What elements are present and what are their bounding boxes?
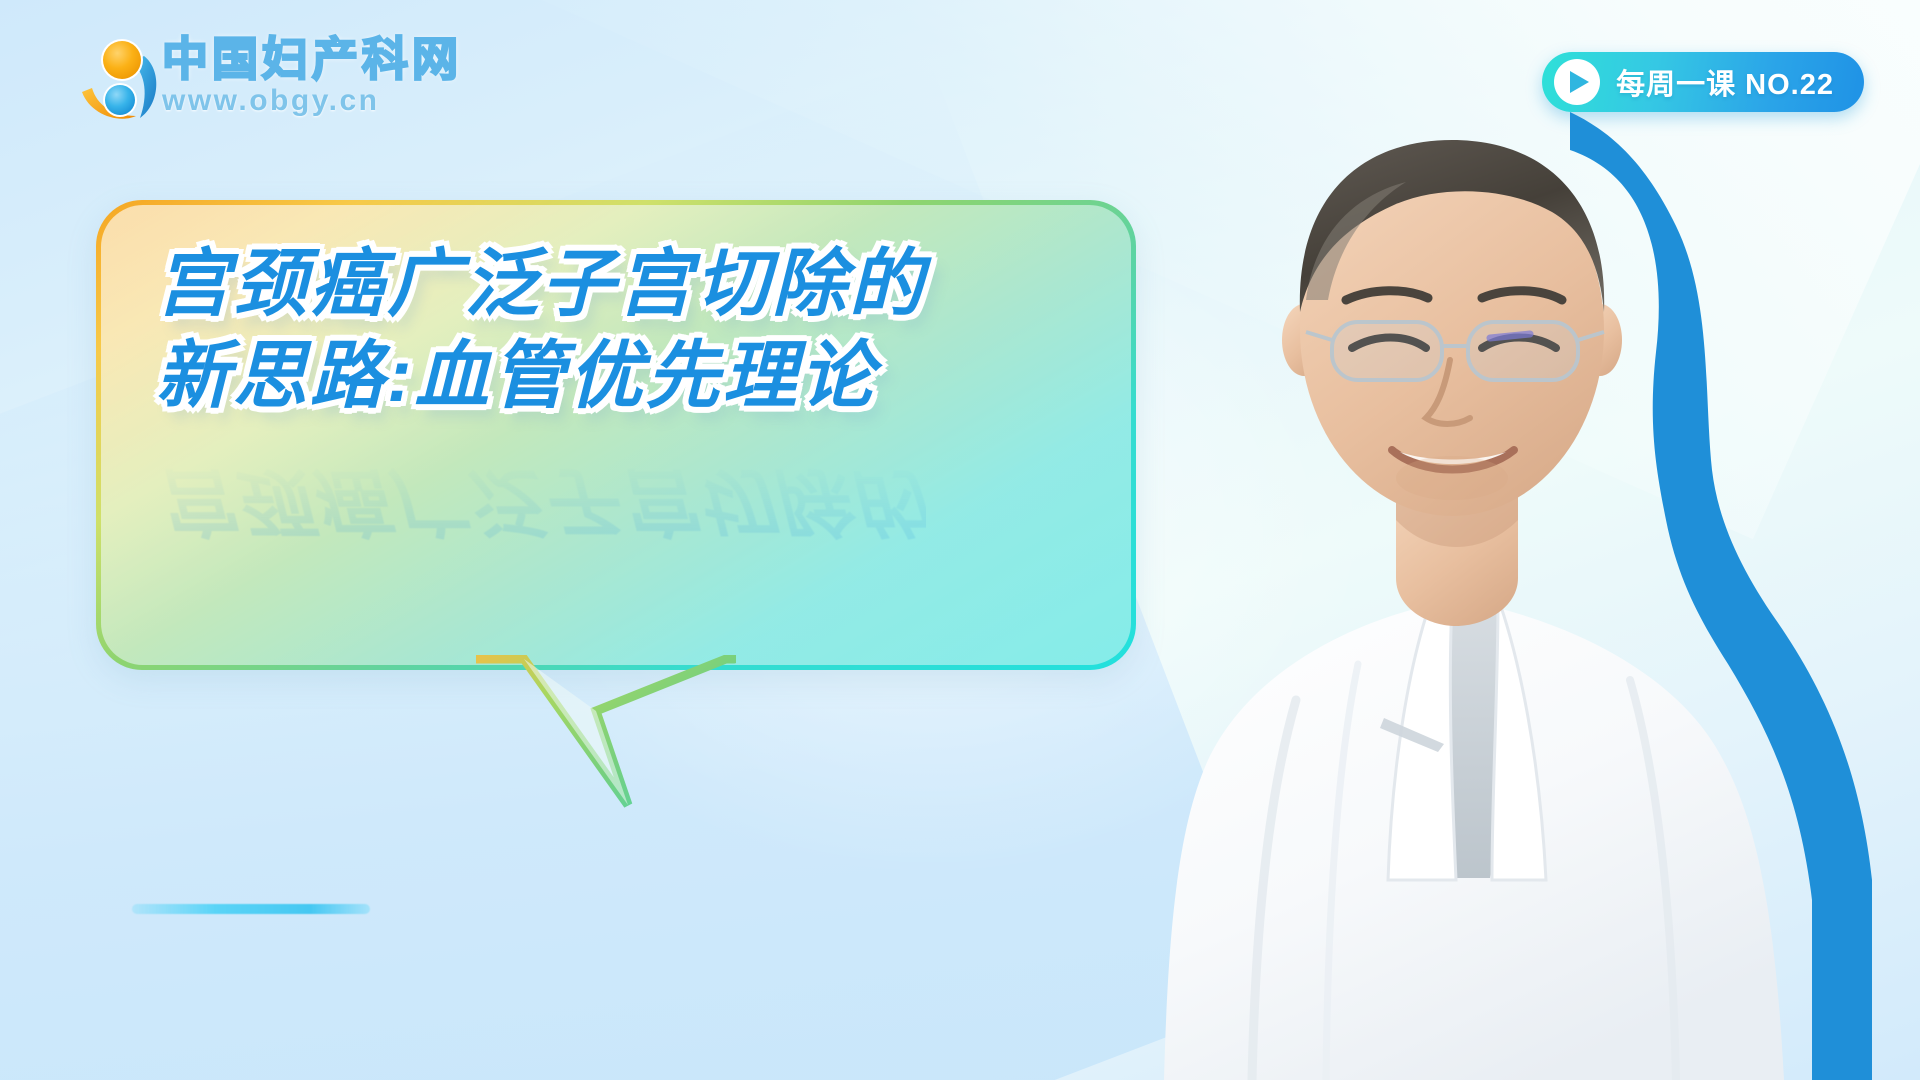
portrait-head — [1300, 140, 1604, 516]
speech-bubble-tail — [476, 655, 736, 835]
title-speech-bubble: 宫颈癌广泛子宫切除的 新思路:血管优先理论 宫颈癌广泛子宫切除的 — [96, 200, 1136, 670]
brand-url: www.obgy.cn — [162, 84, 462, 118]
page-title: 宫颈癌广泛子宫切除的 新思路:血管优先理论 — [156, 238, 926, 422]
title-line-1: 宫颈癌广泛子宫切除的 — [156, 238, 926, 330]
decorative-line — [132, 904, 370, 914]
brand-logo[interactable]: 中国妇产科网 www.obgy.cn — [78, 30, 438, 130]
brand-name: 中国妇产科网 — [162, 32, 462, 86]
portrait-body — [1164, 596, 1784, 1080]
obgy-logo-icon — [78, 34, 164, 126]
speaker-portrait — [1100, 0, 1920, 1080]
title-line-2: 新思路:血管优先理论 — [156, 330, 926, 422]
